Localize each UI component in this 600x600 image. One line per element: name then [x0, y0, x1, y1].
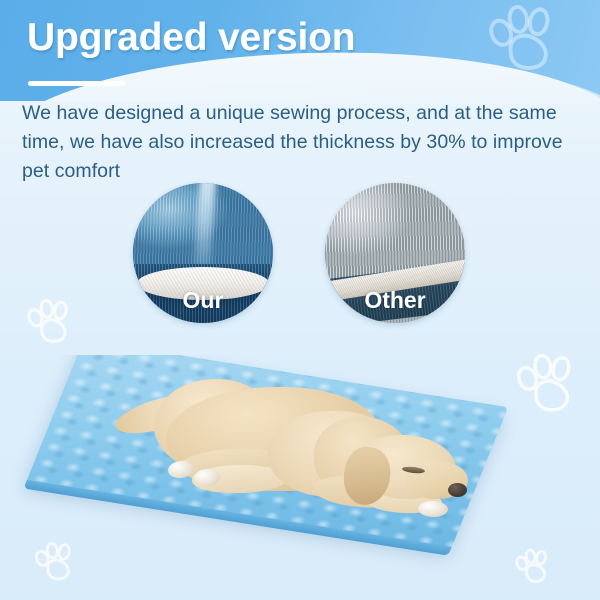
dog-nose [448, 483, 467, 497]
header-banner: Upgraded version [0, 0, 600, 101]
title-underline [28, 81, 125, 86]
description-text: We have designed a unique sewing process… [22, 99, 584, 186]
comparison-circle-other: Other [325, 183, 465, 323]
other-label: Other [325, 287, 465, 314]
product-photo [0, 355, 600, 600]
product-banner: Upgraded version We have designed a uniq… [0, 0, 600, 600]
comparison-circle-ours: Our [133, 183, 273, 323]
page-title: Upgraded version [27, 14, 355, 61]
paw-icon-bg-left [24, 298, 76, 346]
dog-paw-front [418, 500, 449, 517]
ours-label: Our [133, 287, 273, 314]
sleeping-dog [118, 365, 448, 530]
paw-icon-bg-bottom-left [32, 541, 78, 583]
paw-icon-bg-bottom-right [513, 548, 553, 585]
